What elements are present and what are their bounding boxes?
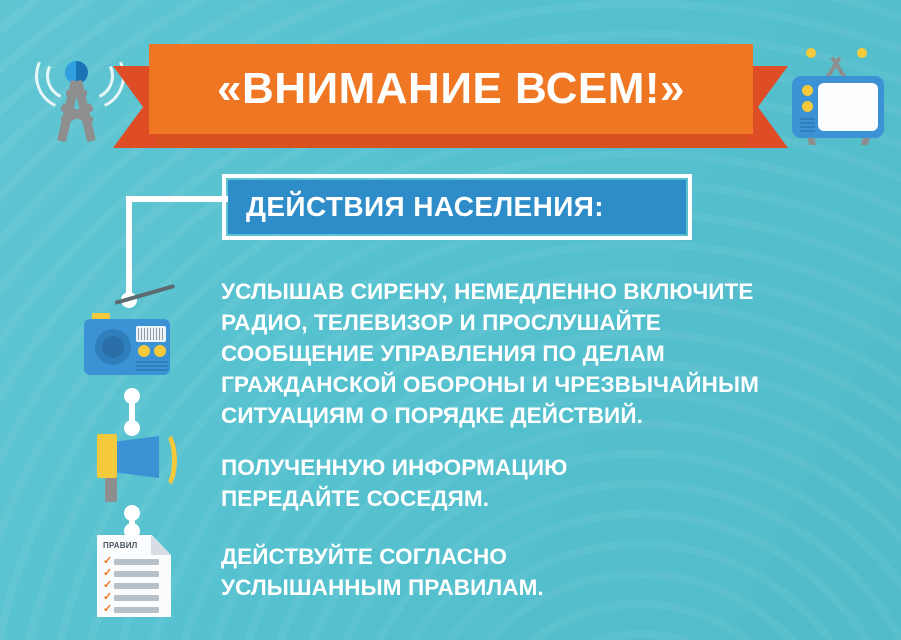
document-title-text: ПРАВИЛ	[103, 541, 147, 550]
connector-knob-top	[124, 388, 140, 404]
rules-document-icon: ПРАВИЛ ✓ ✓ ✓ ✓ ✓	[97, 535, 171, 617]
check-icon: ✓	[103, 556, 112, 567]
document-line	[114, 583, 159, 589]
radio-knob-right	[154, 345, 166, 357]
tv-speaker-grill	[800, 118, 815, 132]
ribbon-main-panel: «ВНИМАНИЕ ВСЕМ!»	[149, 44, 753, 134]
megaphone-icon	[83, 428, 183, 506]
document-checklist-row: ✓	[103, 559, 163, 565]
connector-elbow-horizontal	[126, 196, 232, 202]
tv-body	[792, 76, 884, 138]
television-icon	[786, 46, 890, 146]
tower-crossbar	[66, 90, 87, 96]
title-ribbon: «ВНИМАНИЕ ВСЕМ!»	[113, 44, 788, 156]
document-line	[114, 571, 159, 577]
document-checklist-row: ✓	[103, 583, 163, 589]
tv-antenna-tip-right	[857, 48, 867, 58]
tv-knob-upper	[802, 85, 813, 96]
check-icon: ✓	[103, 568, 112, 579]
check-icon: ✓	[103, 604, 112, 615]
connector-knob-top	[124, 505, 140, 521]
section-header-box: ДЕЙСТВИЯ НАСЕЛЕНИЯ:	[228, 180, 686, 234]
poster-title: «ВНИМАНИЕ ВСЕМ!»	[217, 67, 685, 111]
radio-vent-lines	[136, 361, 168, 373]
connector-dumbbell-lower	[124, 505, 140, 539]
tv-knob-lower	[802, 101, 813, 112]
megaphone-rim-outer	[151, 430, 177, 490]
document-checklist-row: ✓	[103, 607, 163, 613]
radio-knob-left	[138, 345, 150, 357]
radio-speaker	[95, 329, 131, 365]
infographic-poster: «ВНИМАНИЕ ВСЕМ!» ДЕЙСТВИЯ НАСЕЛЕНИЯ:	[0, 0, 901, 640]
section-header-text: ДЕЙСТВИЯ НАСЕЛЕНИЯ:	[246, 193, 604, 221]
radio-body	[84, 319, 170, 375]
check-icon: ✓	[103, 580, 112, 591]
instruction-paragraph-1: УСЛЫШАВ СИРЕНУ, НЕМЕДЛЕННО ВКЛЮЧИТЕ РАДИ…	[221, 276, 841, 431]
instruction-paragraph-3: ДЕЙСТВУЙТЕ СОГЛАСНО УСЛЫШАННЫМ ПРАВИЛАМ.	[221, 541, 741, 603]
megaphone-band	[97, 434, 117, 478]
document-line	[114, 559, 159, 565]
connector-elbow-vertical	[126, 196, 132, 298]
document-checklist-row: ✓	[103, 571, 163, 577]
tv-antenna-tip-left	[806, 48, 816, 58]
instruction-paragraph-2: ПОЛУЧЕННУЮ ИНФОРМАЦИЮ ПЕРЕДАЙТЕ СОСЕДЯМ.	[221, 452, 741, 514]
radio-tuning-dial	[136, 326, 166, 342]
radio-receiver-icon	[79, 303, 181, 377]
check-icon: ✓	[103, 592, 112, 603]
document-line	[114, 595, 159, 601]
tv-screen	[818, 83, 878, 131]
document-fold-corner	[151, 535, 171, 555]
document-checklist-row: ✓	[103, 595, 163, 601]
document-line	[114, 607, 159, 613]
